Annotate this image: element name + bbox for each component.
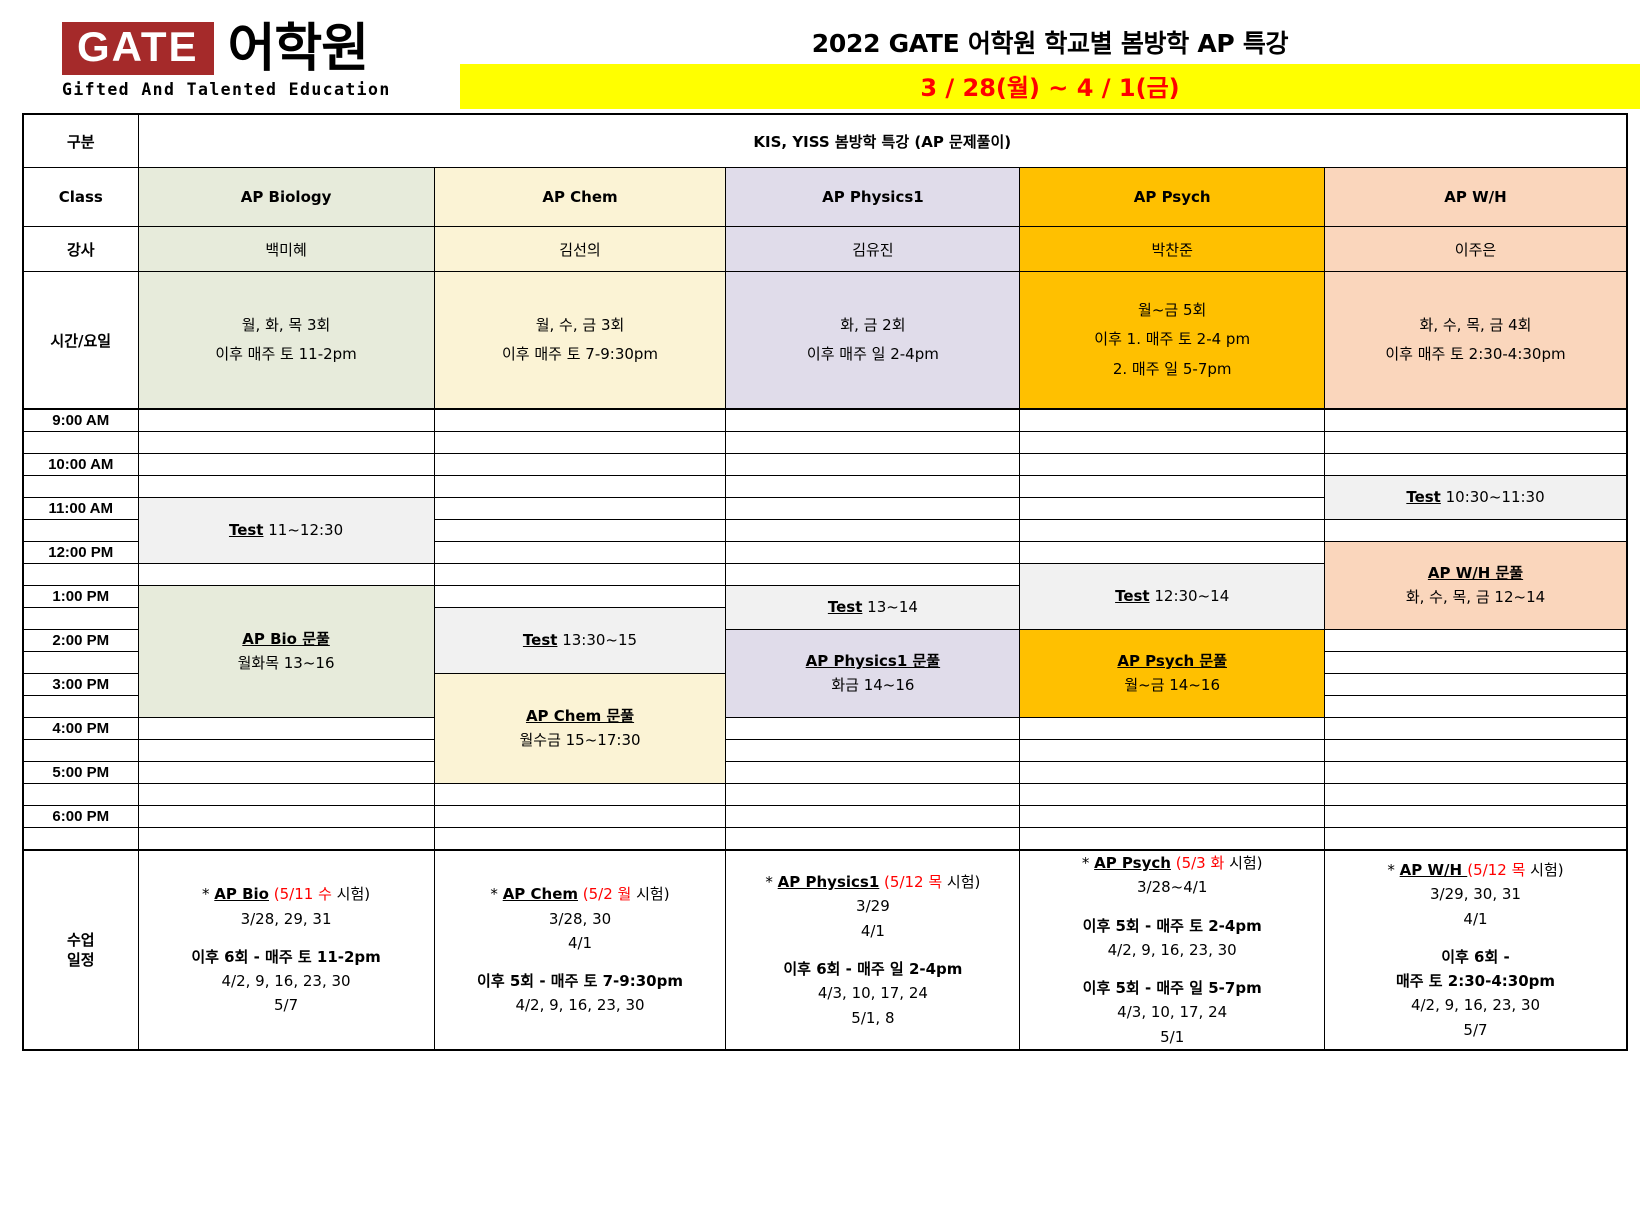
time-day-chem-l1: 월, 수, 금 3회 [435,311,726,340]
schedule-phys-note-dates-1: 4/3, 10, 17, 24 [726,981,1019,1005]
grid-cell-chem-1230 [434,564,726,586]
schedule-phys-header: * AP Physics1 (5/12 목 시험) [726,870,1019,894]
time-label-1230 [23,564,138,586]
time-label-1000: 10:00 AM [23,454,138,476]
event-bio-test: Test 11~12:30 [138,498,434,564]
schedule-bio-star: * [202,885,214,903]
event-phys-class-time: 14~16 [859,676,915,694]
grid-cell-psych-1130 [1020,520,1325,542]
schedule-wh-dates-1: 3/29, 30, 31 [1325,882,1626,906]
grid-cell-chem-1000 [434,454,726,476]
grid-cell-wh-1530 [1324,696,1627,718]
gate-logo: GATE 어학원 Gifted And Talented Education [62,22,452,99]
grid-row-1830 [23,828,1627,851]
schedule-wh-name: AP W/H [1400,861,1468,879]
event-chem-class-day: 월수금 [519,731,560,749]
time-label-1630 [23,740,138,762]
grid-cell-wh-1400 [1324,630,1627,652]
event-bio-class-title: AP Bio 문풀 [139,628,434,651]
event-psych-class-title: AP Psych 문풀 [1020,650,1324,673]
grid-row-1030: Test 10:30~11:30 [23,476,1627,498]
grid-cell-bio-1230 [138,564,434,586]
grid-cell-wh-1600 [1324,718,1627,740]
event-psych-test-time: 12:30~14 [1150,587,1230,605]
grid-cell-bio-1700 [138,762,434,784]
grid-cell-chem-1300 [434,586,726,608]
grid-row-1700: 5:00 PM [23,762,1627,784]
time-label-1100: 11:00 AM [23,498,138,520]
time-label-1500: 3:00 PM [23,674,138,696]
schedule-phys-dates-2: 4/1 [726,919,1019,943]
grid-cell-bio-1600 [138,718,434,740]
schedule-wh-note-dates-1: 4/2, 9, 16, 23, 30 [1325,993,1626,1017]
schedule-wh-exam-black: 시험) [1525,861,1563,879]
row-bottom-schedule: 수업 일정 * AP Bio (5/11 수 시험) 3/28, 29, 31 … [23,850,1627,1050]
schedule-wh-header: * AP W/H (5/12 목 시험) [1325,858,1626,882]
grid-cell-psych-1700 [1020,762,1325,784]
grid-cell-wh-1730 [1324,784,1627,806]
schedule-psych-exam-black: 시험) [1224,854,1262,872]
grid-cell-phys-1600 [726,718,1020,740]
grid-cell-phys-1200 [726,542,1020,564]
logo-badge-text: GATE [62,22,214,75]
grid-cell-psych-1000 [1020,454,1325,476]
schedule-chem-note-dates-1: 4/2, 9, 16, 23, 30 [435,993,726,1017]
event-phys-test-time: 13~14 [862,598,918,616]
event-chem-class: AP Chem 문풀 월수금 15~17:30 [434,674,726,784]
time-label-1800: 6:00 PM [23,806,138,828]
grid-cell-chem-1130 [434,520,726,542]
event-bio-class: AP Bio 문풀 월화목 13~16 [138,586,434,718]
grid-cell-chem-1730 [434,784,726,806]
time-label-1830 [23,828,138,851]
grid-cell-chem-1100 [434,498,726,520]
grid-cell-psych-1200 [1020,542,1325,564]
event-chem-test-title: Test [523,631,558,649]
grid-cell-phys-1630 [726,740,1020,762]
event-wh-test-title: Test [1406,488,1441,506]
time-day-bio: 월, 화, 목 3회 이후 매주 토 11-2pm [138,272,434,410]
grid-row-0930 [23,432,1627,454]
label-schedule-l1: 수업 [24,930,138,950]
grid-cell-chem-1800 [434,806,726,828]
event-phys-class: AP Physics1 문풀 화금 14~16 [726,630,1020,718]
time-label-1530 [23,696,138,718]
grid-row-1000: 10:00 AM [23,454,1627,476]
schedule-bio-name: AP Bio [214,885,269,903]
page-header: GATE 어학원 Gifted And Talented Education 2… [0,0,1650,108]
label-teacher: 강사 [23,227,138,272]
time-label-1300: 1:00 PM [23,586,138,608]
time-day-chem: 월, 수, 금 3회 이후 매주 토 7-9:30pm [434,272,726,410]
grid-cell-psych-1100 [1020,498,1325,520]
time-day-psych-l3: 2. 매주 일 5-7pm [1020,355,1324,384]
schedule-cell-phys: * AP Physics1 (5/12 목 시험) 3/29 4/1 이후 6회… [726,850,1020,1050]
time-label-1730 [23,784,138,806]
time-day-bio-l2: 이후 매주 토 11-2pm [139,340,434,369]
event-phys-test: Test 13~14 [726,586,1020,630]
event-psych-test: Test 12:30~14 [1020,564,1325,630]
label-class: Class [23,168,138,227]
label-gubun: 구분 [23,114,138,168]
event-wh-test: Test 10:30~11:30 [1324,476,1627,520]
grid-cell-psych-1630 [1020,740,1325,762]
schedule-psych-star: * [1082,854,1094,872]
event-chem-class-time: 15~17:30 [561,731,641,749]
page-title: 2022 GATE 어학원 학교별 봄방학 AP 특강 [460,24,1640,60]
event-chem-test-time: 13:30~15 [557,631,637,649]
teacher-wh: 이주은 [1324,227,1627,272]
date-range-text: 3 / 28(월) ~ 4 / 1(금) [920,74,1179,102]
grid-cell-psych-1600 [1020,718,1325,740]
time-label-1030 [23,476,138,498]
date-banner: 3 / 28(월) ~ 4 / 1(금) [460,64,1640,109]
schedule-table: 구분 KIS, YISS 봄방학 특강 (AP 문제풀이) Class AP B… [22,113,1628,1051]
grid-cell-wh-1500 [1324,674,1627,696]
event-psych-class: AP Psych 문풀 월~금 14~16 [1020,630,1325,718]
event-wh-class-time: 12~14 [1490,588,1546,606]
class-name-phys: AP Physics1 [726,168,1020,227]
class-name-psych: AP Psych [1020,168,1325,227]
schedule-wh-exam-red: (5/12 목 [1467,861,1525,879]
schedule-chem-exam-black: 시험) [631,885,669,903]
time-day-bio-l1: 월, 화, 목 3회 [139,311,434,340]
event-wh-class: AP W/H 문풀 화, 수, 목, 금 12~14 [1324,542,1627,630]
class-name-wh: AP W/H [1324,168,1627,227]
schedule-wh-note-b: 매주 토 2:30-4:30pm [1325,969,1626,993]
grid-cell-chem-0900 [434,409,726,432]
grid-cell-wh-1430 [1324,652,1627,674]
teacher-bio: 백미혜 [138,227,434,272]
time-day-phys-l2: 이후 매주 일 2-4pm [726,340,1019,369]
teacher-phys: 김유진 [726,227,1020,272]
schedule-bio-exam-black: 시험) [332,885,370,903]
grid-cell-psych-0900 [1020,409,1325,432]
grid-cell-phys-1800 [726,806,1020,828]
grid-row-0900: 9:00 AM [23,409,1627,432]
schedule-psych-note2-dates-2: 5/1 [1020,1025,1324,1049]
grid-cell-phys-1130 [726,520,1020,542]
event-wh-class-day: 화, 수, 목, 금 [1406,588,1490,606]
schedule-bio-note: 이후 6회 - 매주 토 11-2pm [139,945,434,969]
label-schedule-l2: 일정 [24,950,138,970]
grid-row-1630 [23,740,1627,762]
schedule-cell-chem: * AP Chem (5/2 월 시험) 3/28, 30 4/1 이후 5회 … [434,850,726,1050]
schedule-cell-wh: * AP W/H (5/12 목 시험) 3/29, 30, 31 4/1 이후… [1324,850,1627,1050]
event-psych-class-day: 월~금 [1124,676,1164,694]
label-schedule: 수업 일정 [23,850,138,1050]
schedule-bio-dates-1: 3/28, 29, 31 [139,907,434,931]
schedule-psych-note: 이후 5회 - 매주 토 2-4pm [1020,914,1324,938]
grid-cell-phys-0930 [726,432,1020,454]
grid-cell-phys-0900 [726,409,1020,432]
schedule-bio-note-dates-1: 4/2, 9, 16, 23, 30 [139,969,434,993]
time-label-1700: 5:00 PM [23,762,138,784]
event-phys-class-day: 화금 [831,676,859,694]
event-bio-test-title: Test [229,521,264,539]
schedule-bio-header: * AP Bio (5/11 수 시험) [139,882,434,906]
schedule-psych-note2: 이후 5회 - 매주 일 5-7pm [1020,976,1324,1000]
row-time-day: 시간/요일 월, 화, 목 3회 이후 매주 토 11-2pm 월, 수, 금 … [23,272,1627,410]
grid-cell-chem-1030 [434,476,726,498]
schedule-phys-exam-red: (5/12 목 [879,873,942,891]
grid-cell-chem-0930 [434,432,726,454]
event-wh-test-time: 10:30~11:30 [1441,488,1545,506]
schedule-psych-dates-1: 3/28~4/1 [1020,875,1324,899]
schedule-chem-dates-2: 4/1 [435,931,726,955]
time-label-1200: 12:00 PM [23,542,138,564]
grid-cell-wh-1630 [1324,740,1627,762]
grid-cell-wh-1700 [1324,762,1627,784]
time-day-wh-l2: 이후 매주 토 2:30-4:30pm [1325,340,1626,369]
event-wh-class-sub: 화, 수, 목, 금 12~14 [1325,586,1626,609]
event-phys-class-sub: 화금 14~16 [726,674,1019,697]
time-day-phys: 화, 금 2회 이후 매주 일 2-4pm [726,272,1020,410]
grid-cell-bio-1630 [138,740,434,762]
time-day-wh: 화, 수, 목, 금 4회 이후 매주 토 2:30-4:30pm [1324,272,1627,410]
row-gubun: 구분 KIS, YISS 봄방학 특강 (AP 문제풀이) [23,114,1627,168]
time-day-chem-l2: 이후 매주 토 7-9:30pm [435,340,726,369]
grid-cell-phys-1830 [726,828,1020,851]
grid-cell-phys-1100 [726,498,1020,520]
grid-cell-phys-1700 [726,762,1020,784]
row-teacher: 강사 백미혜 김선의 김유진 박찬준 이주은 [23,227,1627,272]
schedule-psych-note-dates-1: 4/2, 9, 16, 23, 30 [1020,938,1324,962]
schedule-chem-exam-red: (5/2 월 [578,885,631,903]
time-day-psych: 월~금 5회 이후 1. 매주 토 2-4 pm 2. 매주 일 5-7pm [1020,272,1325,410]
event-chem-class-sub: 월수금 15~17:30 [435,729,726,752]
schedule-wh-dates-2: 4/1 [1325,907,1626,931]
schedule-wh-note-dates-2: 5/7 [1325,1018,1626,1042]
schedule-psych-note2-dates-1: 4/3, 10, 17, 24 [1020,1000,1324,1024]
title-block: 2022 GATE 어학원 학교별 봄방학 AP 특강 3 / 28(월) ~ … [460,24,1640,109]
schedule-phys-star: * [765,873,777,891]
schedule-chem-note: 이후 5회 - 매주 토 7-9:30pm [435,969,726,993]
schedule-psych-name: AP Psych [1094,854,1171,872]
grid-cell-phys-1730 [726,784,1020,806]
event-bio-class-day: 월화목 [238,654,279,672]
grid-cell-psych-1030 [1020,476,1325,498]
grid-cell-bio-1030 [138,476,434,498]
grid-row-1600: 4:00 PM [23,718,1627,740]
time-day-psych-l1: 월~금 5회 [1020,296,1324,325]
schedule-cell-psych: * AP Psych (5/3 화 시험) 3/28~4/1 이후 5회 - 매… [1020,850,1325,1050]
schedule-phys-dates-1: 3/29 [726,894,1019,918]
event-bio-class-sub: 월화목 13~16 [139,652,434,675]
schedule-page: GATE 어학원 Gifted And Talented Education 2… [0,0,1650,1217]
schedule-chem-name: AP Chem [503,885,578,903]
grid-row-1800: 6:00 PM [23,806,1627,828]
schedule-phys-note-dates-2: 5/1, 8 [726,1006,1019,1030]
schedule-phys-exam-black: 시험) [942,873,980,891]
event-wh-class-title: AP W/H 문풀 [1325,562,1626,585]
grid-cell-wh-1830 [1324,828,1627,851]
time-label-0930 [23,432,138,454]
grid-cell-wh-1130 [1324,520,1627,542]
teacher-chem: 김선의 [434,227,726,272]
grid-cell-bio-1000 [138,454,434,476]
event-psych-test-title: Test [1115,587,1150,605]
grid-cell-psych-1800 [1020,806,1325,828]
time-label-0900: 9:00 AM [23,409,138,432]
time-label-1130 [23,520,138,542]
time-day-wh-l1: 화, 수, 목, 금 4회 [1325,311,1626,340]
event-phys-test-title: Test [828,598,863,616]
time-label-1330 [23,608,138,630]
event-bio-class-time: 13~16 [279,654,335,672]
class-name-bio: AP Biology [138,168,434,227]
schedule-wh-note: 이후 6회 - [1325,945,1626,969]
schedule-bio-exam-red: (5/11 수 [269,885,332,903]
row-class: Class AP Biology AP Chem AP Physics1 AP … [23,168,1627,227]
schedule-chem-star: * [490,885,502,903]
grid-cell-psych-0930 [1020,432,1325,454]
grid-cell-wh-0930 [1324,432,1627,454]
schedule-psych-exam-red: (5/3 화 [1171,854,1224,872]
event-psych-class-time: 14~16 [1165,676,1221,694]
grid-cell-chem-1200 [434,542,726,564]
event-phys-class-title: AP Physics1 문풀 [726,650,1019,673]
grid-cell-wh-1800 [1324,806,1627,828]
class-name-chem: AP Chem [434,168,726,227]
teacher-psych: 박찬준 [1020,227,1325,272]
schedule-chem-header: * AP Chem (5/2 월 시험) [435,882,726,906]
schedule-chem-dates-1: 3/28, 30 [435,907,726,931]
grid-cell-bio-1800 [138,806,434,828]
grid-cell-bio-0930 [138,432,434,454]
event-bio-test-time: 11~12:30 [263,521,343,539]
grid-cell-phys-1230 [726,564,1020,586]
schedule-phys-note: 이후 6회 - 매주 일 2-4pm [726,957,1019,981]
label-time-day: 시간/요일 [23,272,138,410]
schedule-phys-name: AP Physics1 [778,873,880,891]
grid-cell-phys-1030 [726,476,1020,498]
schedule-wh-star: * [1387,861,1399,879]
grid-cell-phys-1000 [726,454,1020,476]
schedule-bio-note-dates-2: 5/7 [139,993,434,1017]
time-day-psych-l2: 이후 1. 매주 토 2-4 pm [1020,325,1324,354]
grid-row-1730 [23,784,1627,806]
grid-cell-bio-1730 [138,784,434,806]
grid-cell-bio-1830 [138,828,434,851]
table-banner: KIS, YISS 봄방학 특강 (AP 문제풀이) [138,114,1627,168]
schedule-psych-header: * AP Psych (5/3 화 시험) [1020,851,1324,875]
event-chem-class-title: AP Chem 문풀 [435,705,726,728]
grid-cell-bio-0900 [138,409,434,432]
grid-cell-psych-1830 [1020,828,1325,851]
event-chem-test: Test 13:30~15 [434,608,726,674]
grid-cell-chem-1830 [434,828,726,851]
logo-tagline: Gifted And Talented Education [62,80,452,99]
time-day-phys-l1: 화, 금 2회 [726,311,1019,340]
logo-korean-text: 어학원 [228,23,369,75]
event-psych-class-sub: 월~금 14~16 [1020,674,1324,697]
schedule-cell-bio: * AP Bio (5/11 수 시험) 3/28, 29, 31 이후 6회 … [138,850,434,1050]
time-label-1400: 2:00 PM [23,630,138,652]
grid-cell-wh-0900 [1324,409,1627,432]
grid-cell-psych-1730 [1020,784,1325,806]
grid-cell-wh-1000 [1324,454,1627,476]
time-label-1430 [23,652,138,674]
time-label-1600: 4:00 PM [23,718,138,740]
